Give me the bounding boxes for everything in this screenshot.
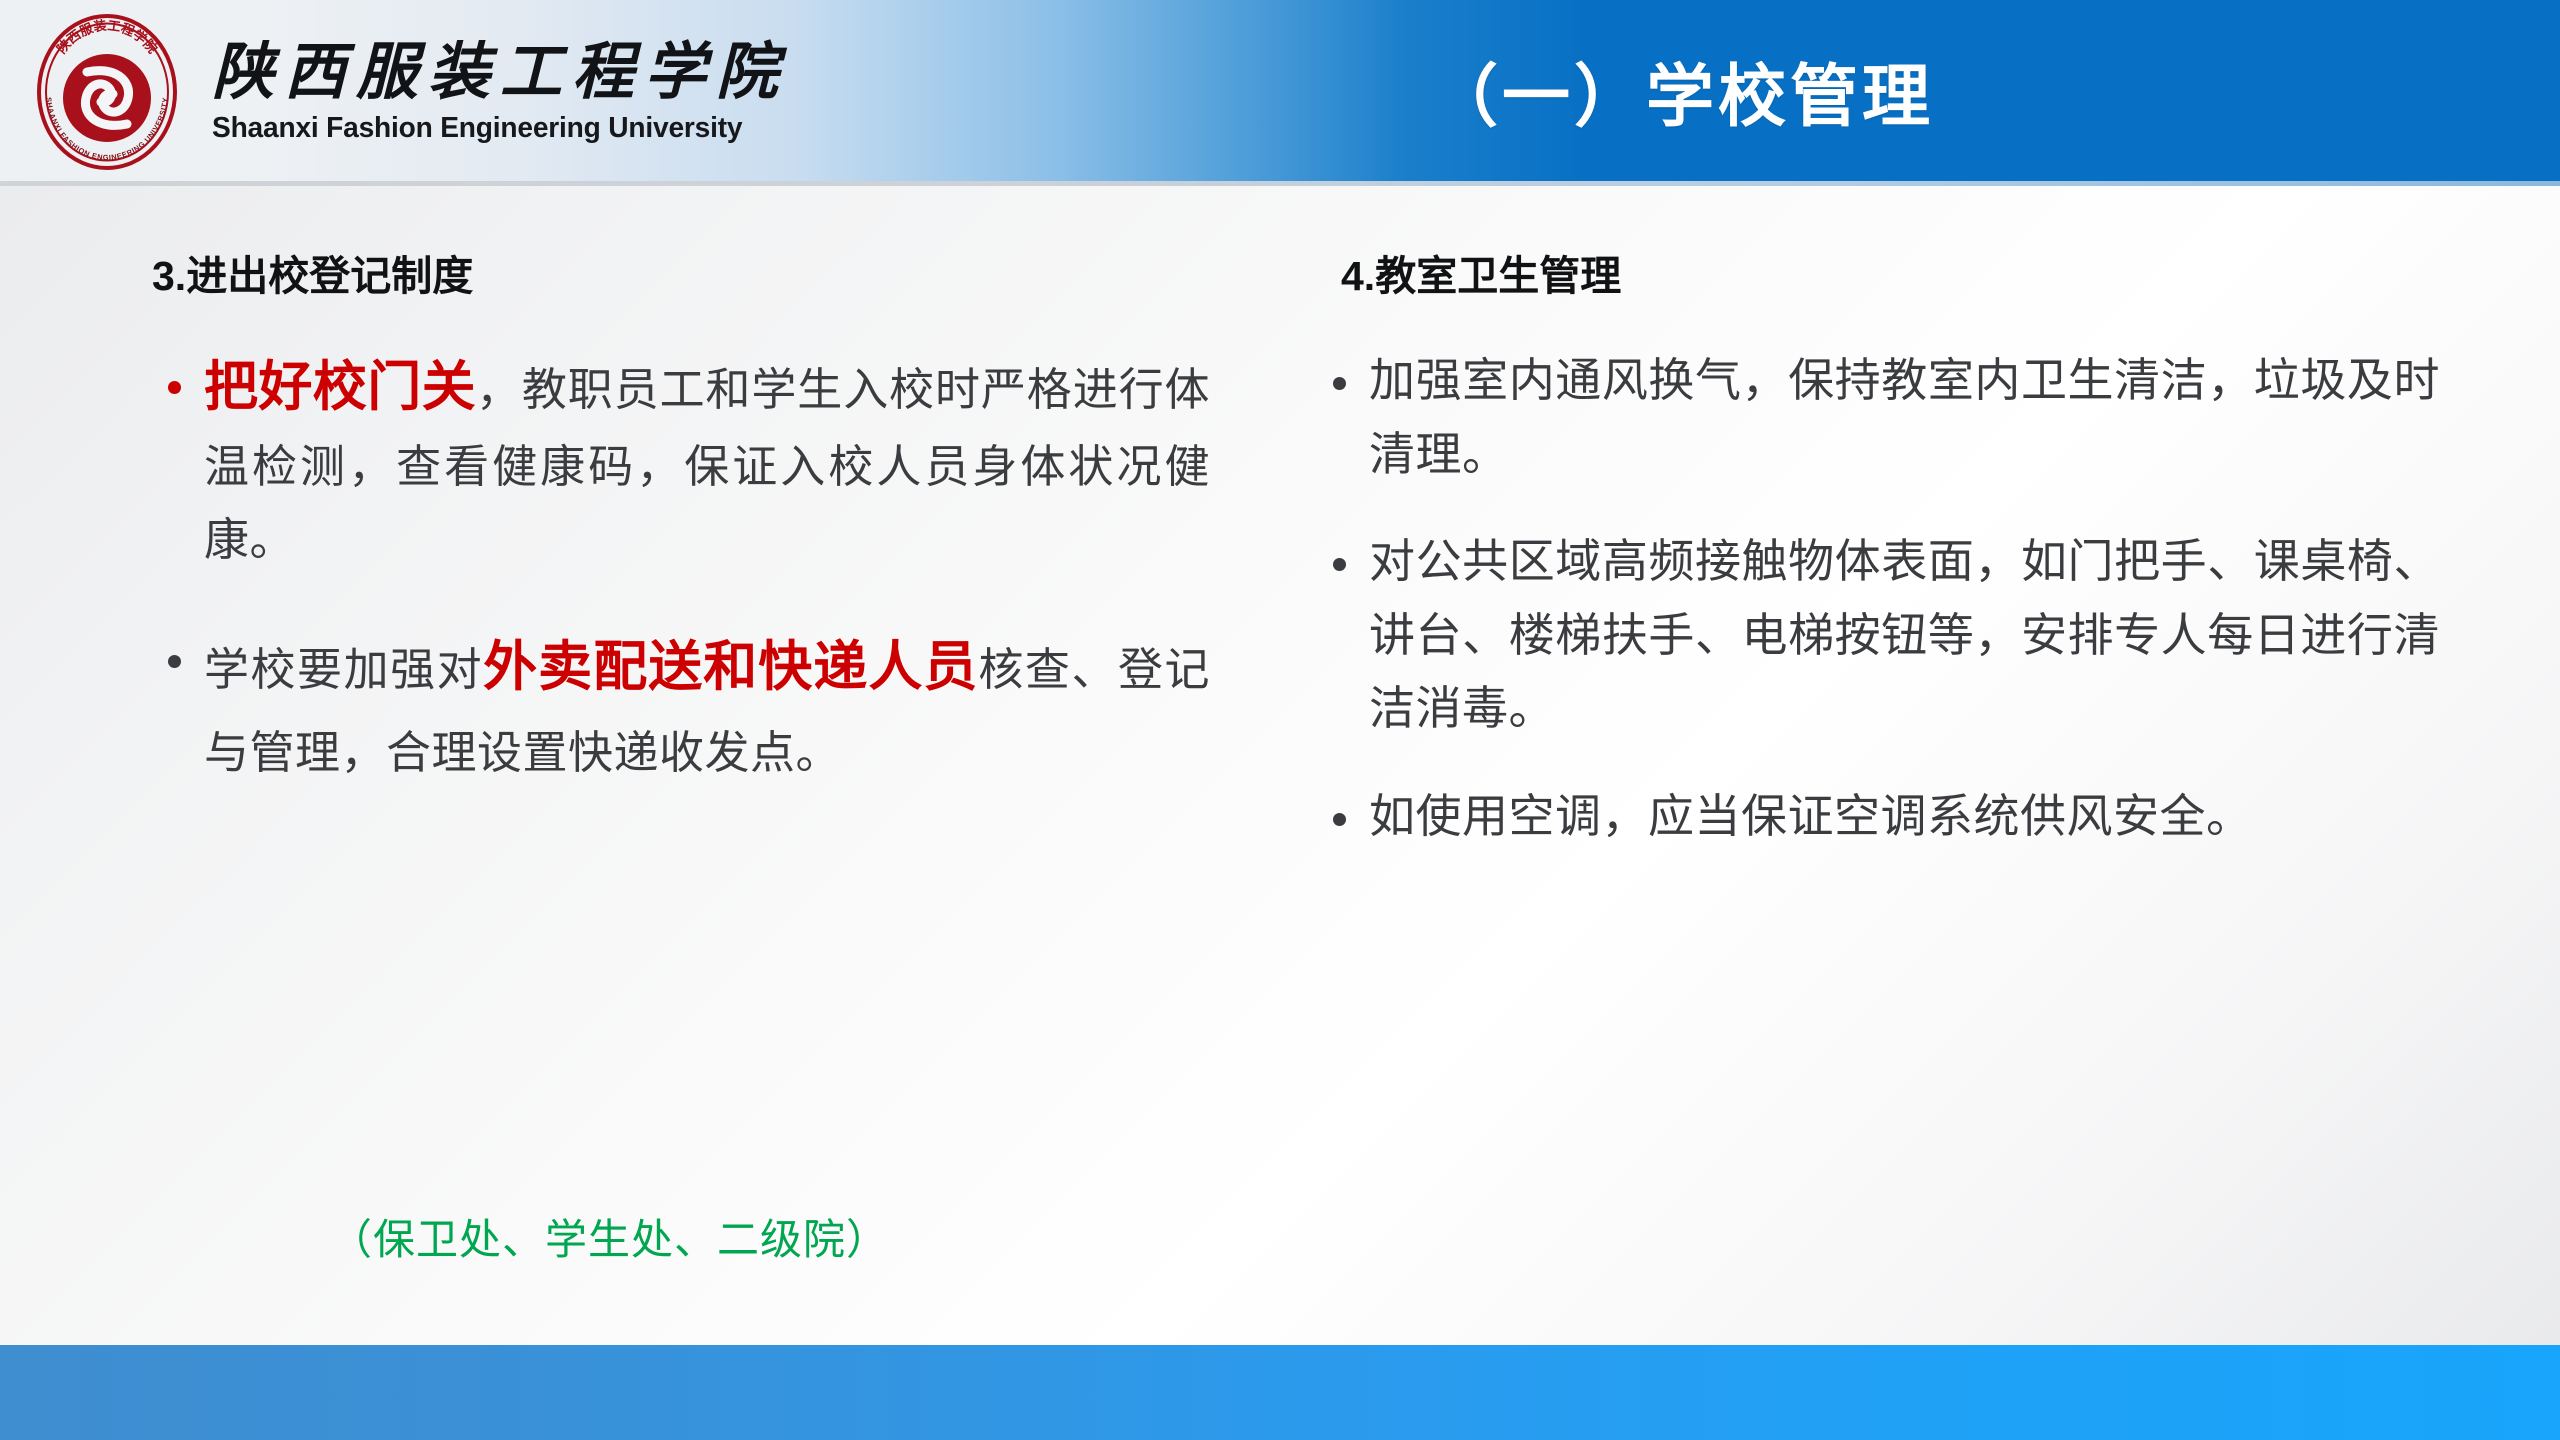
brand-name-english: Shaanxi Fashion Engineering University (212, 112, 771, 145)
slide: 陕西服装工程学院 SHAANXI FASHION ENGINEERING UNI… (0, 0, 2560, 1440)
list-item: 学校要加强对外卖配送和快递人员核查、登记与管理，合理设置快递收发点。 (152, 621, 1210, 791)
column-left: 3.进出校登记制度 把好校门关，教职员工和学生入校时严格进行体温检测，查看健康码… (0, 186, 1320, 1345)
bullet-emphasis: 外卖配送和快递人员 (483, 637, 978, 697)
column-right-bullets: 加强室内通风换气，保持教室内卫生清洁，垃圾及时清理。 对公共区域高频接触物体表面… (1321, 344, 2440, 854)
slide-title: （一）学校管理 (1430, 0, 1934, 181)
department-note-left: （保卫处、学生处、二级院） (330, 1206, 889, 1267)
list-item: 把好校门关，教职员工和学生入校时严格进行体温检测，查看健康码，保证入校人员身体状… (152, 344, 1210, 577)
column-right: 4.教室卫生管理 加强室内通风换气，保持教室内卫生清洁，垃圾及时清理。 对公共区… (1320, 186, 2560, 1345)
column-left-bullets: 把好校门关，教职员工和学生入校时严格进行体温检测，查看健康码，保证入校人员身体状… (152, 344, 1210, 792)
footer-bar (0, 1345, 2560, 1440)
university-brand: 陕西服装工程学院 SHAANXI FASHION ENGINEERING UNI… (28, 6, 788, 174)
column-left-heading: 3.进出校登记制度 (152, 242, 1210, 302)
slide-content: 3.进出校登记制度 把好校门关，教职员工和学生入校时严格进行体温检测，查看健康码… (0, 186, 2560, 1345)
list-item: 对公共区域高频接触物体表面，如门把手、课桌椅、讲台、楼梯扶手、电梯按钮等，安排专… (1321, 525, 2440, 746)
bullet-lead-text: 学校要加强对 (204, 644, 483, 695)
bullet-text: 加强室内通风换气，保持教室内卫生清洁，垃圾及时清理。 (1369, 354, 2440, 480)
brand-name-chinese: 陕西服装工程学院 (212, 41, 788, 107)
bullet-text: 对公共区域高频接触物体表面，如门把手、课桌椅、讲台、楼梯扶手、电梯按钮等，安排专… (1369, 535, 2440, 734)
list-item: 加强室内通风换气，保持教室内卫生清洁，垃圾及时清理。 (1321, 344, 2440, 491)
slide-header: 陕西服装工程学院 SHAANXI FASHION ENGINEERING UNI… (0, 0, 2560, 181)
bullet-emphasis: 把好校门关 (204, 357, 476, 417)
bullet-text: 如使用空调，应当保证空调系统供风安全。 (1369, 790, 2253, 842)
column-right-heading: 4.教室卫生管理 (1341, 242, 2440, 302)
brand-names: 陕西服装工程学院 Shaanxi Fashion Engineering Uni… (212, 41, 788, 146)
list-item: 如使用空调，应当保证空调系统供风安全。 (1321, 780, 2440, 854)
university-seal-logo: 陕西服装工程学院 SHAANXI FASHION ENGINEERING UNI… (28, 6, 186, 174)
